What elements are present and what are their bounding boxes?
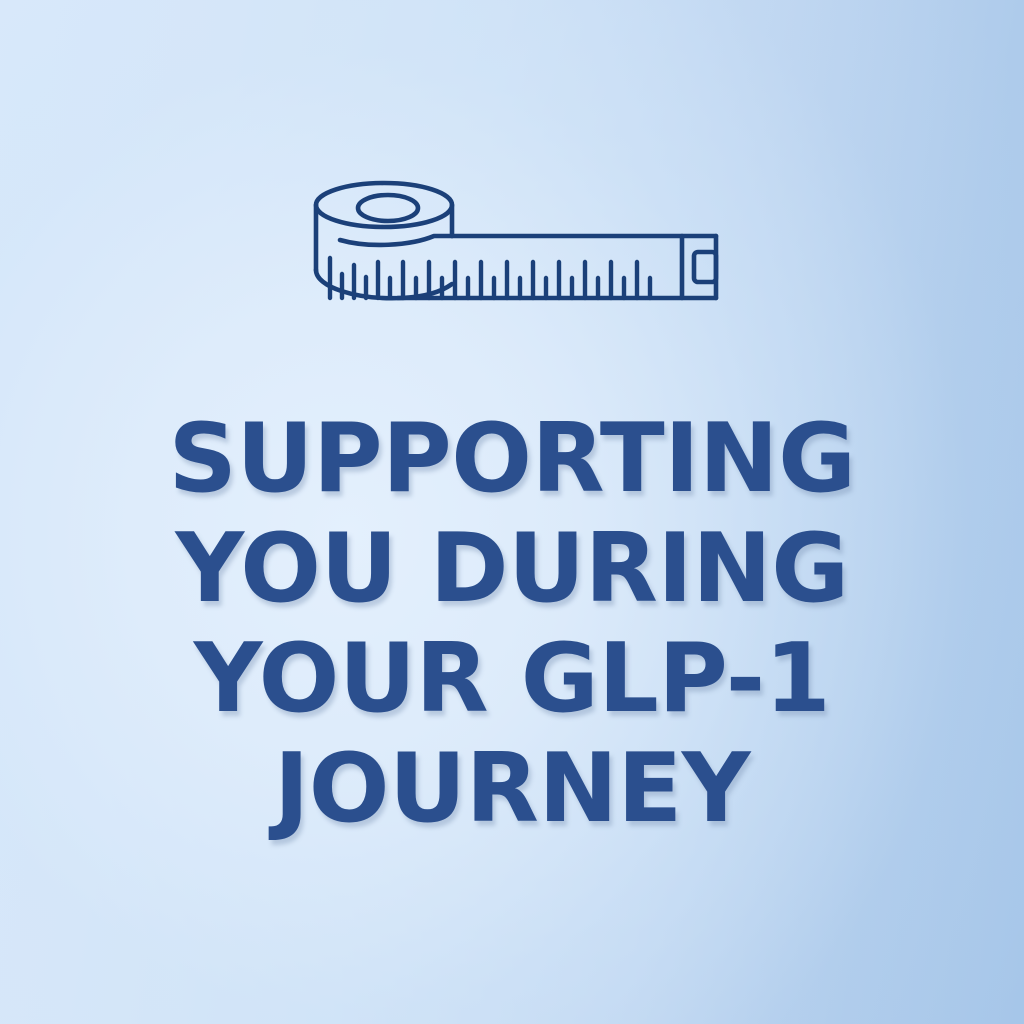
headline-line-3: YOUR GLP-1 xyxy=(0,624,1024,734)
roll-inner-band xyxy=(340,236,452,245)
tape-measure-icon xyxy=(298,172,734,328)
poster-canvas: SUPPORTING YOU DURING YOUR GLP-1 JOURNEY xyxy=(0,0,1024,1024)
headline-line-4: JOURNEY xyxy=(0,734,1024,844)
tape-tick-marks xyxy=(330,258,650,298)
roll-hole-ellipse xyxy=(358,195,418,221)
headline: SUPPORTING YOU DURING YOUR GLP-1 JOURNEY xyxy=(0,404,1024,844)
headline-line-1: SUPPORTING xyxy=(0,404,1024,514)
headline-line-2: YOU DURING xyxy=(0,514,1024,624)
tape-measure-graphic xyxy=(298,172,734,328)
roll-bottom-curve xyxy=(316,270,452,298)
tape-clip-slot xyxy=(694,252,716,282)
